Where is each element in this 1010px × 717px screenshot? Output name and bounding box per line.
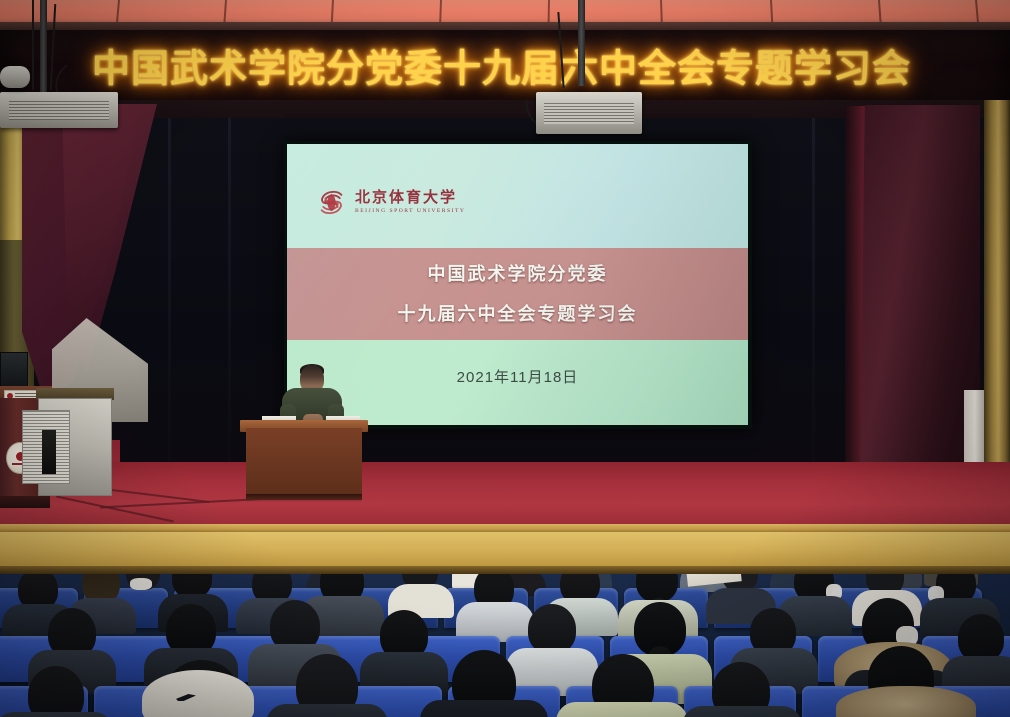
slide-title-line2: 十九届六中全会专题学习会 xyxy=(287,300,748,326)
center-projector-vents xyxy=(544,103,633,125)
audience-shoulders xyxy=(266,704,388,717)
bsu-logo-chinese: 北京体育大学 xyxy=(355,191,465,206)
audience-area xyxy=(0,574,1010,717)
left-projector-lens-housing xyxy=(0,66,30,88)
speaker-table xyxy=(246,428,362,500)
left-projector xyxy=(0,92,118,128)
face-mask xyxy=(130,578,152,590)
fur-hood xyxy=(836,686,976,717)
center-projector xyxy=(536,92,642,134)
left-projector-mount xyxy=(40,0,47,95)
audience-shoulders xyxy=(420,700,548,717)
wall-control-box xyxy=(0,352,28,388)
bsu-logo: 北京体育大学 BEIJING SPORT UNIVERSITY xyxy=(315,186,465,219)
audience-shoulders xyxy=(0,712,114,717)
led-banner: 中国武术学院分党委十九届六中全会专题学习会 xyxy=(0,30,1010,100)
stage-floor xyxy=(0,462,1010,530)
audience-shoulders xyxy=(682,706,802,717)
audience-shoulders xyxy=(556,702,688,717)
curtain-fold xyxy=(168,118,171,500)
bsu-logo-text: 北京体育大学 BEIJING SPORT UNIVERSITY xyxy=(355,191,465,215)
right-maroon-curtain xyxy=(860,105,980,500)
auditorium-photo: 中国武术学院分党委十九届六中全会专题学习会 xyxy=(0,0,1010,717)
led-banner-text: 中国武术学院分党委十九届六中全会专题学习会 xyxy=(92,38,911,93)
bsu-swirl-logo-icon xyxy=(315,186,348,219)
audience-head xyxy=(28,666,84,717)
slide-title-line1: 中国武术学院分党委 xyxy=(287,260,748,286)
curtain-fold xyxy=(812,118,815,500)
ac-unit-vent-slot xyxy=(42,430,56,474)
right-wood-pillar xyxy=(984,100,1010,500)
left-projector-cable xyxy=(32,0,34,90)
podium-base xyxy=(0,496,50,508)
center-projector-mount xyxy=(578,0,585,86)
slide-date: 2021年11月18日 xyxy=(287,366,748,387)
projection-screen: 北京体育大学 BEIJING SPORT UNIVERSITY 中国武术学院分党… xyxy=(287,144,748,425)
curtain-fold xyxy=(228,118,231,500)
bsu-logo-english: BEIJING SPORT UNIVERSITY xyxy=(355,209,465,215)
speaker-table-shadow xyxy=(246,494,362,502)
audience-head xyxy=(528,604,576,654)
left-projector-vents xyxy=(9,101,108,120)
audience-head xyxy=(958,614,1004,662)
